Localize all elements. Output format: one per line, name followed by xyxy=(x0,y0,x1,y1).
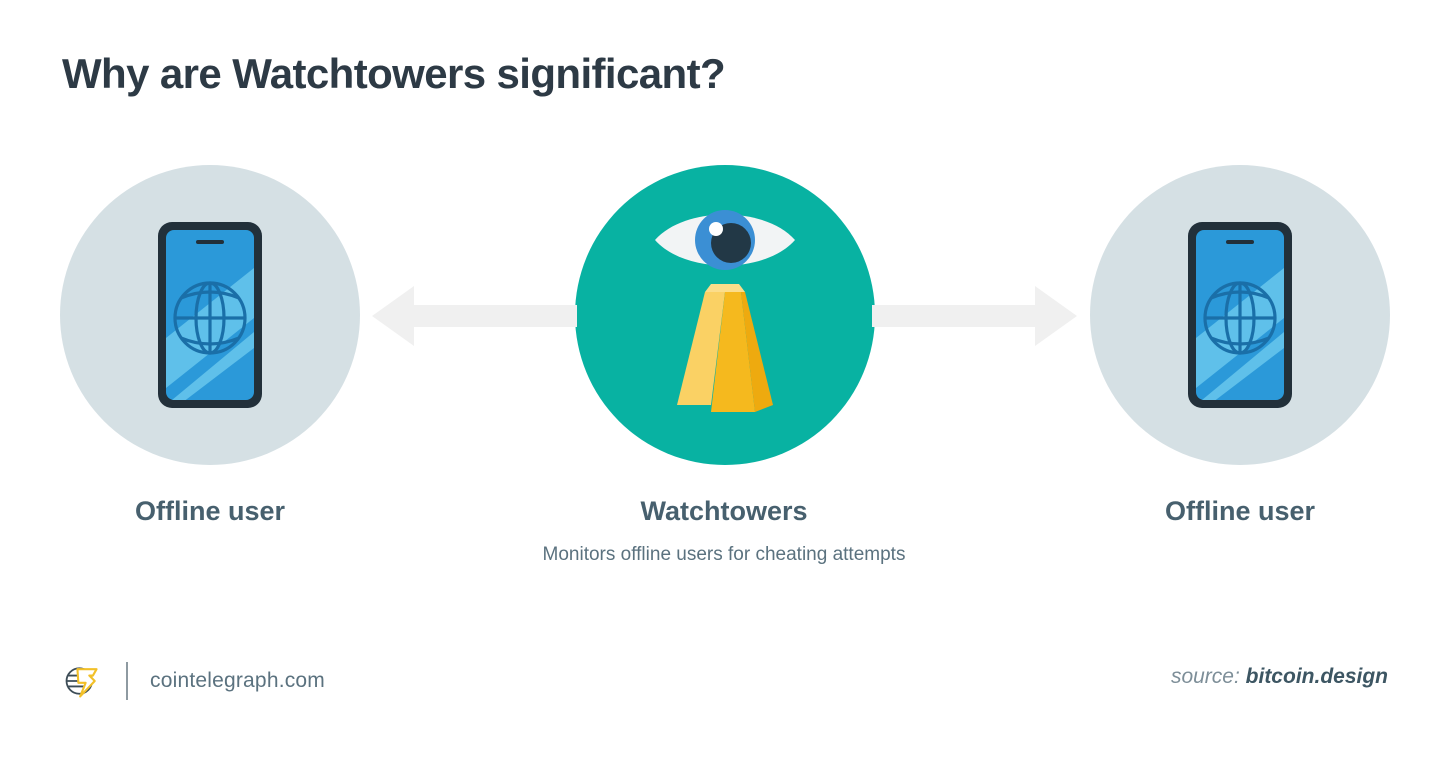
node-label: Watchtowers xyxy=(524,495,924,527)
diagram-node-offline-user-left xyxy=(60,165,360,465)
source-label: source: xyxy=(1171,665,1240,688)
node-label: Offline user xyxy=(1040,495,1440,527)
caption-watchtowers: Watchtowers Monitors offline users for c… xyxy=(524,495,924,570)
node-label: Offline user xyxy=(10,495,410,527)
arrow-to-right-user xyxy=(872,285,1077,347)
icon-circle-background xyxy=(60,165,360,465)
icon-circle-background xyxy=(575,165,875,465)
footer-url[interactable]: cointelegraph.com xyxy=(150,669,325,693)
page-title: Why are Watchtowers significant? xyxy=(62,50,725,98)
caption-offline-user-right: Offline user xyxy=(1040,495,1440,527)
footer: cointelegraph.com source: bitcoin.design xyxy=(0,655,1450,715)
diagram-node-offline-user-right xyxy=(1090,165,1390,465)
arrow-to-left-user xyxy=(372,285,577,347)
icon-circle-background xyxy=(1090,165,1390,465)
cointelegraph-coin-bolt-logo-icon xyxy=(62,661,102,701)
footer-divider xyxy=(126,662,128,700)
watchtower-eye-icon xyxy=(615,200,835,430)
footer-source: source: bitcoin.design xyxy=(1171,665,1388,689)
diagram-node-watchtowers xyxy=(575,165,875,465)
footer-brand: cointelegraph.com xyxy=(62,655,325,707)
mobile-globe-icon xyxy=(1186,220,1294,410)
node-sublabel: Monitors offline users for cheating atte… xyxy=(524,540,924,569)
caption-offline-user-left: Offline user xyxy=(10,495,410,527)
watchtower-diagram xyxy=(0,165,1450,485)
mobile-globe-icon xyxy=(156,220,264,410)
source-value[interactable]: bitcoin.design xyxy=(1246,665,1388,688)
